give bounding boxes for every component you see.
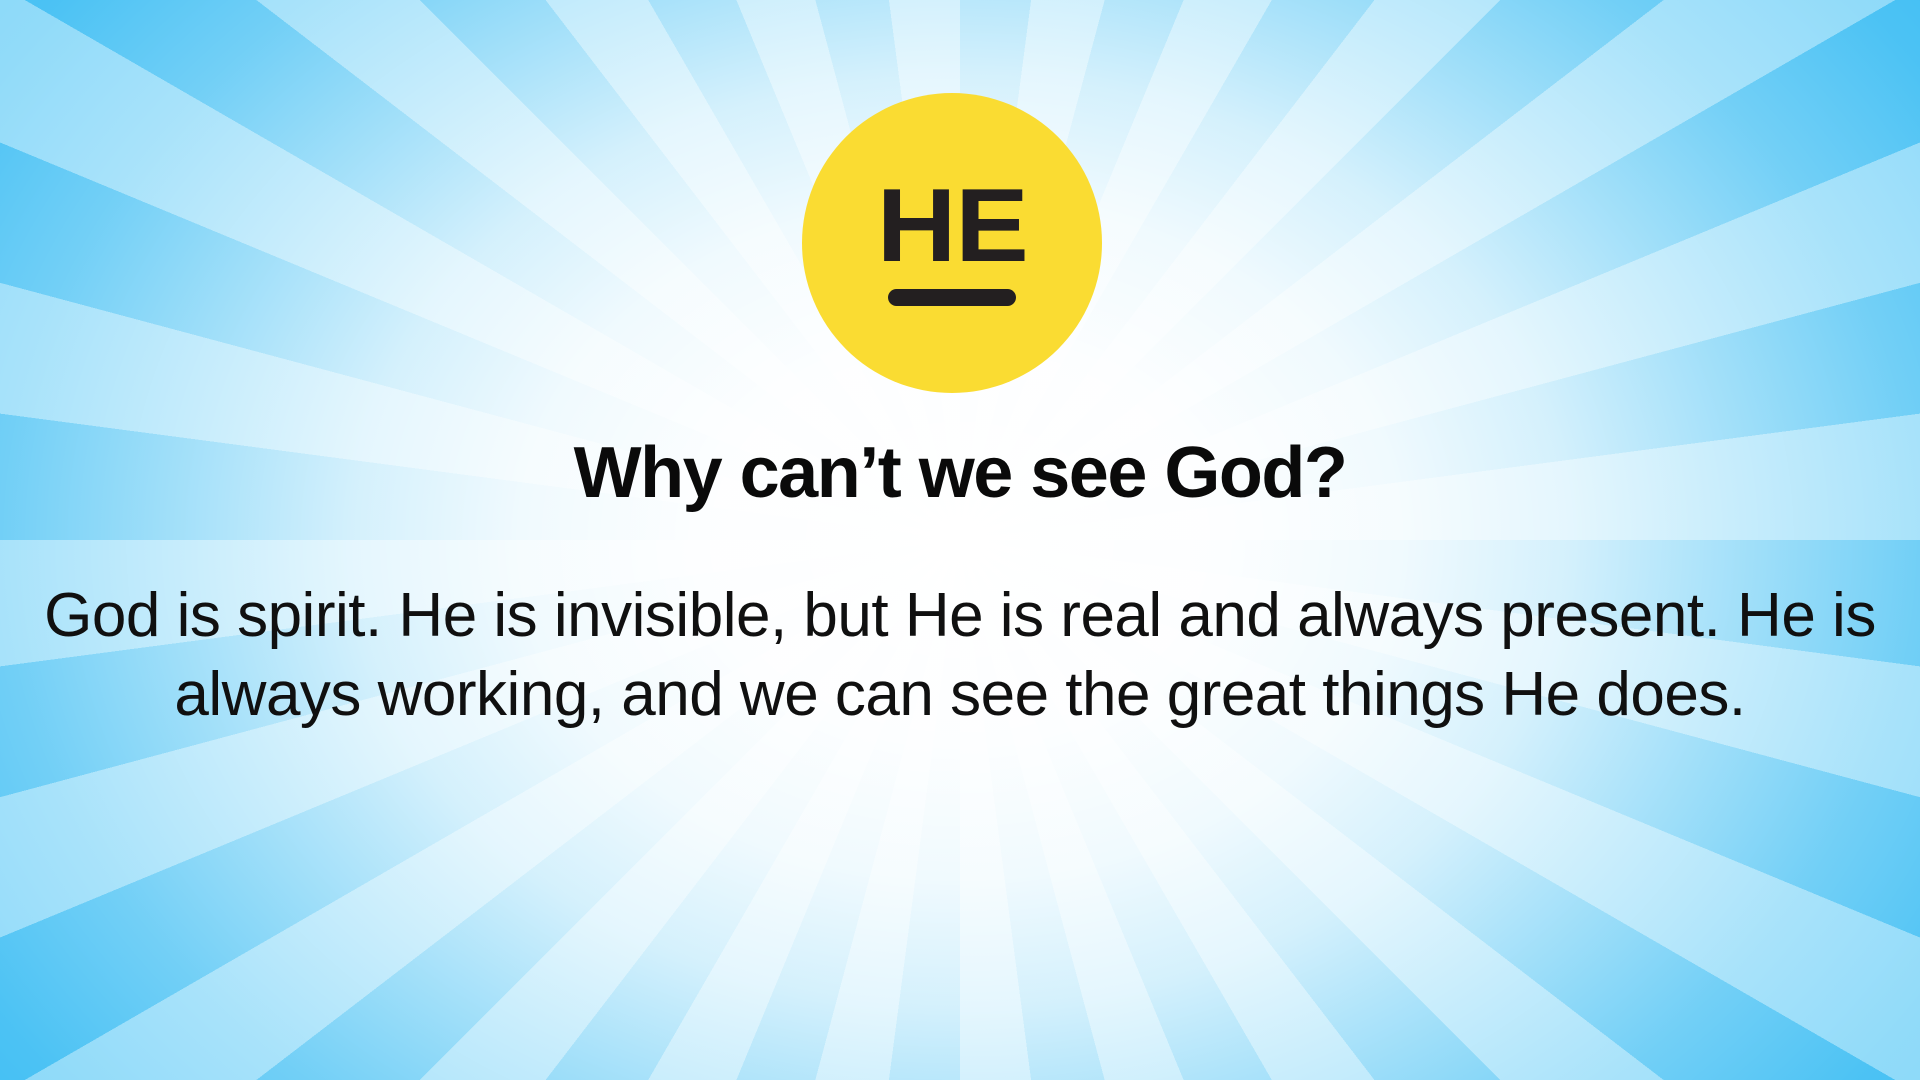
logo-letters: HE: [876, 180, 1027, 274]
slide-canvas: HE Why can’t we see God? God is spirit. …: [0, 0, 1920, 1080]
he-logo: HE: [795, 88, 1125, 418]
body-paragraph: God is spirit. He is invisible, but He i…: [35, 576, 1885, 735]
logo-underline-bar-icon: [888, 289, 1016, 306]
page-title: Why can’t we see God?: [574, 436, 1347, 512]
slide-content: HE Why can’t we see God? God is spirit. …: [0, 0, 1920, 1080]
logo-yellow-disc-icon: HE: [802, 93, 1102, 393]
